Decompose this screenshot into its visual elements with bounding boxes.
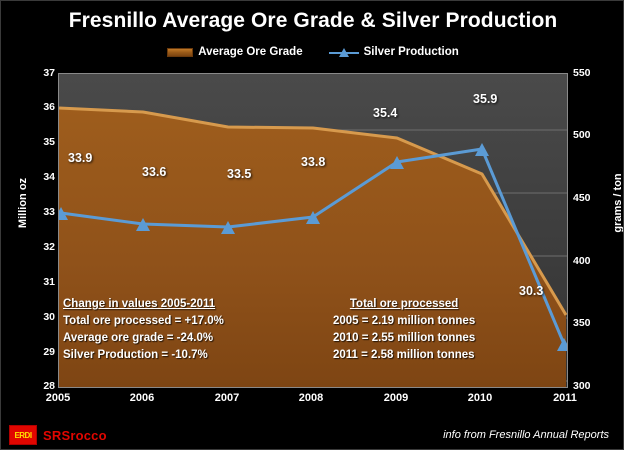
y-tick-left-1: 36 bbox=[15, 101, 55, 113]
y-tick-right-5: 300 bbox=[573, 380, 619, 392]
annotation-right-header: Total ore processed bbox=[333, 296, 475, 313]
y-tick-left-5: 32 bbox=[15, 241, 55, 253]
data-label-2009: 35.4 bbox=[373, 106, 397, 120]
annotation-left-header: Change in values 2005-2011 bbox=[63, 296, 224, 313]
data-label-2010: 35.9 bbox=[473, 92, 497, 106]
y-tick-left-4: 33 bbox=[15, 206, 55, 218]
y-axis-left-ticks: 37 36 35 34 33 32 31 30 29 28 bbox=[13, 1, 55, 450]
data-label-2008: 33.8 bbox=[301, 155, 325, 169]
legend-label-average-ore-grade: Average Ore Grade bbox=[198, 46, 302, 58]
y-tick-right-0: 550 bbox=[573, 67, 619, 79]
data-label-2011: 30.3 bbox=[519, 284, 543, 298]
y-tick-right-3: 400 bbox=[573, 255, 619, 267]
source-note: info from Fresnillo Annual Reports bbox=[443, 429, 609, 441]
chart-page: Fresnillo Average Ore Grade & Silver Pro… bbox=[0, 0, 624, 450]
legend-item-average-ore-grade[interactable]: Average Ore Grade bbox=[167, 46, 302, 58]
annotation-left-row-1: Average ore grade = -24.0% bbox=[63, 330, 224, 347]
y-tick-left-9: 28 bbox=[15, 380, 55, 392]
y-tick-left-3: 34 bbox=[15, 171, 55, 183]
x-tick-2011: 2011 bbox=[535, 392, 595, 404]
y-axis-right-ticks: 550 500 450 400 350 300 bbox=[573, 1, 619, 450]
y-tick-left-2: 35 bbox=[15, 136, 55, 148]
line-swatch-icon bbox=[329, 47, 359, 58]
area-swatch-icon bbox=[167, 48, 193, 57]
annotation-right-row-0: 2005 = 2.19 million tonnes bbox=[333, 313, 475, 330]
annotation-left-row-2: Silver Production = -10.7% bbox=[63, 347, 224, 364]
data-label-2007: 33.5 bbox=[227, 167, 251, 181]
data-label-2005: 33.9 bbox=[68, 151, 92, 165]
page-title: Fresnillo Average Ore Grade & Silver Pro… bbox=[1, 9, 624, 33]
y-tick-left-8: 29 bbox=[15, 346, 55, 358]
annotation-right-row-2: 2011 = 2.58 million tonnes bbox=[333, 347, 475, 364]
y-tick-right-1: 500 bbox=[573, 129, 619, 141]
logo-mark-text: ERDI bbox=[14, 431, 31, 440]
y-tick-left-7: 30 bbox=[15, 311, 55, 323]
x-tick-2009: 2009 bbox=[366, 392, 426, 404]
annotation-left-row-0: Total ore processed = +17.0% bbox=[63, 313, 224, 330]
srsrocco-mark-icon: ERDI bbox=[9, 425, 37, 445]
x-tick-2008: 2008 bbox=[281, 392, 341, 404]
x-tick-2007: 2007 bbox=[197, 392, 257, 404]
legend-item-silver-production[interactable]: Silver Production bbox=[329, 46, 459, 58]
x-tick-2010: 2010 bbox=[450, 392, 510, 404]
legend-label-silver-production: Silver Production bbox=[364, 46, 459, 58]
y-tick-right-2: 450 bbox=[573, 192, 619, 204]
y-tick-left-6: 31 bbox=[15, 276, 55, 288]
y-tick-left-0: 37 bbox=[15, 67, 55, 79]
brand-logo[interactable]: ERDI SRSrocco bbox=[9, 425, 107, 445]
annotation-right-row-1: 2010 = 2.55 million tonnes bbox=[333, 330, 475, 347]
brand-name: SRSrocco bbox=[43, 428, 107, 443]
annotation-total-ore-processed: Total ore processed 2005 = 2.19 million … bbox=[333, 296, 475, 364]
chart-legend: Average Ore Grade Silver Production bbox=[1, 46, 624, 58]
x-tick-2005: 2005 bbox=[28, 392, 88, 404]
y-tick-right-4: 350 bbox=[573, 317, 619, 329]
annotation-change-in-values: Change in values 2005-2011 Total ore pro… bbox=[63, 296, 224, 364]
x-tick-2006: 2006 bbox=[112, 392, 172, 404]
data-label-2006: 33.6 bbox=[142, 165, 166, 179]
